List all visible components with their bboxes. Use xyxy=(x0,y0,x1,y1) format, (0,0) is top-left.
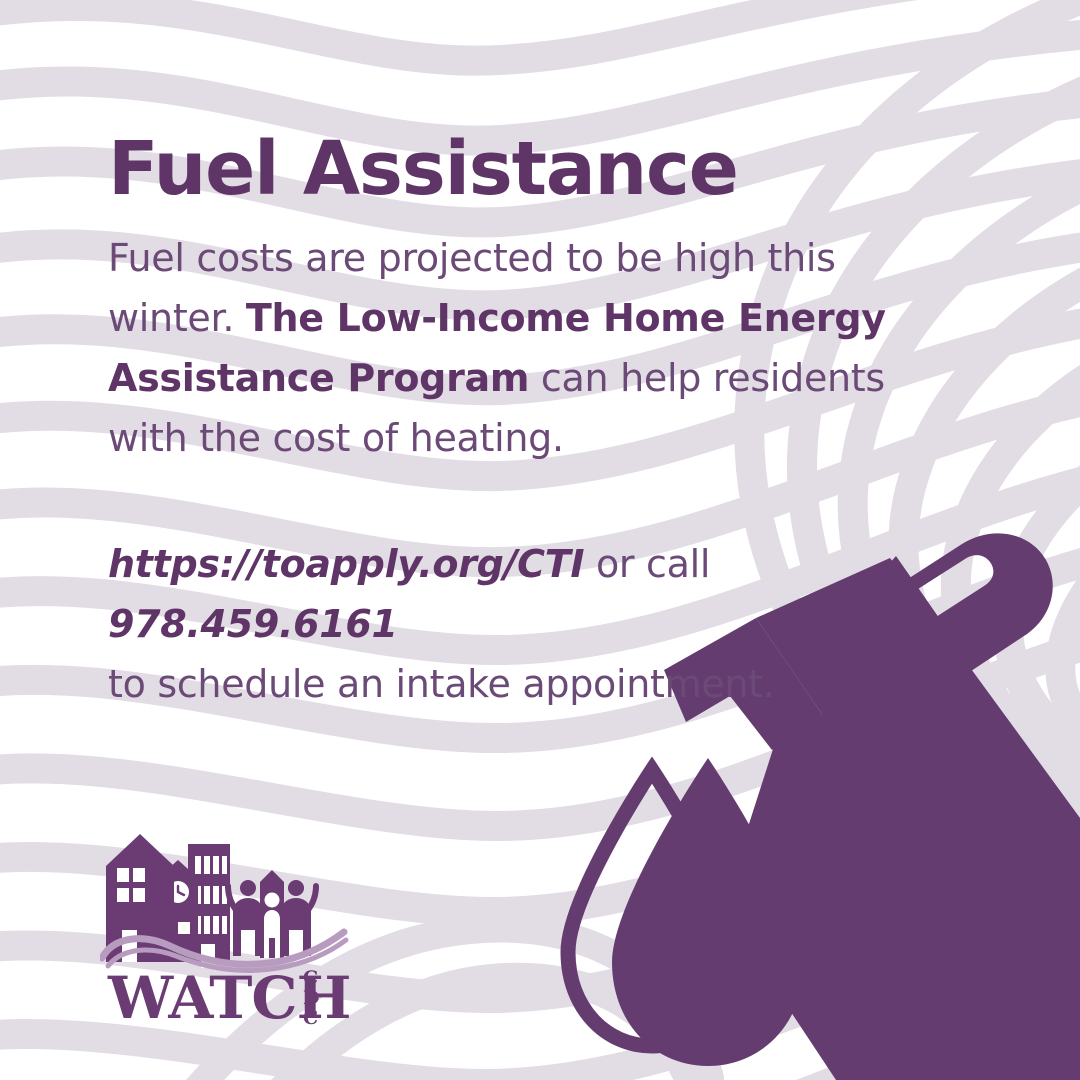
contact-paragraph: https://toapply.org/CTI or call 978.459.… xyxy=(108,534,928,714)
body-paragraph: Fuel costs are projected to be high this… xyxy=(108,228,928,468)
phone-number-link[interactable]: 978.459.6161 xyxy=(108,602,398,646)
logo-suffix-letter-d: D xyxy=(303,987,319,1009)
fuel-assistance-poster: Fuel Assistance Fuel costs are projected… xyxy=(0,0,1080,1080)
page-title: Fuel Assistance xyxy=(108,132,928,206)
watch-cdc-logo: WATCH C D C xyxy=(100,826,350,1026)
logo-house-door xyxy=(122,930,137,962)
logo-suffix-letter-c1: C xyxy=(303,967,318,989)
logo-suffix-letter-c2: C xyxy=(303,1007,318,1026)
apply-url-link[interactable]: https://toapply.org/CTI xyxy=(108,542,584,586)
contact-connector-text: or call xyxy=(584,542,710,586)
logo-people-group-icon xyxy=(228,870,316,958)
poster-text-block: Fuel Assistance Fuel costs are projected… xyxy=(108,132,928,714)
contact-instruction-text: to schedule an intake appointment. xyxy=(108,662,775,706)
